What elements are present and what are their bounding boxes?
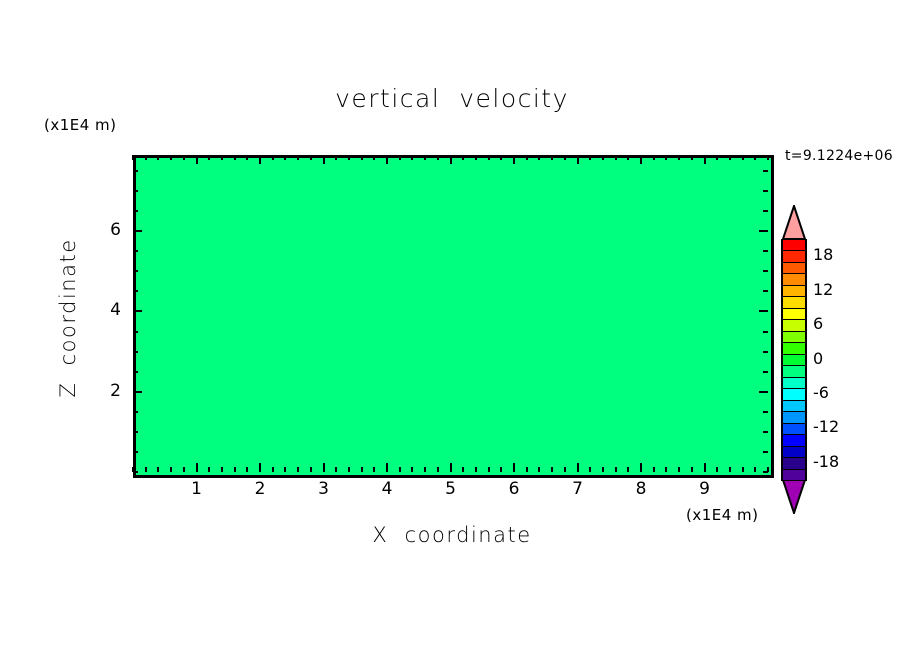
x-tick-major	[196, 463, 198, 472]
vertical-velocity-field	[136, 158, 771, 475]
z-tick-minor	[133, 290, 138, 292]
x-tick-minor-top	[361, 155, 363, 160]
x-tick-minor	[716, 467, 718, 472]
x-tick-minor	[564, 467, 566, 472]
x-tick-minor	[615, 467, 617, 472]
x-tick-minor	[335, 467, 337, 472]
x-tick-minor-top	[183, 155, 185, 160]
x-tick-minor-top	[564, 155, 566, 160]
colorbar	[781, 205, 807, 514]
x-tick-minor-top	[462, 155, 464, 160]
x-tick-minor-top	[538, 155, 540, 160]
x-tick-minor	[246, 467, 248, 472]
x-tick-minor	[284, 467, 286, 472]
x-axis-unit-label: (x1E4 m)	[686, 506, 759, 524]
x-tick-minor	[551, 467, 553, 472]
z-axis-title: Z coordinate	[56, 198, 80, 438]
x-tick-minor-top	[589, 155, 591, 160]
x-tick-minor	[437, 467, 439, 472]
x-tick-minor-top	[488, 155, 490, 160]
z-tick-label: 6	[91, 220, 121, 240]
x-tick-major-top	[704, 155, 706, 164]
x-tick-minor	[272, 467, 274, 472]
z-tick-minor	[133, 210, 138, 212]
x-tick-minor-top	[678, 155, 680, 160]
x-tick-minor-top	[170, 155, 172, 160]
x-tick-label: 7	[558, 479, 598, 499]
x-axis-title: X coordinate	[0, 523, 904, 547]
x-tick-label: 1	[177, 479, 217, 499]
x-tick-major	[640, 463, 642, 472]
x-tick-minor	[488, 467, 490, 472]
z-tick-minor-right	[763, 210, 768, 212]
colorbar-tick-label: 6	[813, 314, 823, 333]
z-tick-minor-right	[763, 290, 768, 292]
x-tick-minor-top	[767, 155, 769, 160]
x-tick-minor	[500, 467, 502, 472]
x-tick-minor-top	[424, 155, 426, 160]
x-tick-major	[513, 463, 515, 472]
x-tick-label: 2	[240, 479, 280, 499]
x-tick-minor	[729, 467, 731, 472]
x-tick-minor	[361, 467, 363, 472]
x-tick-minor	[627, 467, 629, 472]
z-tick-minor-right	[763, 471, 768, 473]
x-tick-major-top	[640, 155, 642, 164]
z-tick-minor-right	[763, 270, 768, 272]
x-tick-minor-top	[297, 155, 299, 160]
x-tick-minor	[234, 467, 236, 472]
colorbar-cap-top	[781, 205, 807, 239]
x-tick-label: 6	[494, 479, 534, 499]
x-tick-major-top	[259, 155, 261, 164]
x-tick-minor-top	[500, 155, 502, 160]
z-tick-label: 4	[91, 300, 121, 320]
figure-root: vertical velocity (x1E4 m) (x1E4 m) t=9.…	[0, 0, 904, 654]
x-tick-minor	[691, 467, 693, 472]
x-tick-minor-top	[627, 155, 629, 160]
z-tick-minor	[133, 471, 138, 473]
x-tick-minor	[145, 467, 147, 472]
z-tick-minor	[133, 250, 138, 252]
z-tick-minor-right	[763, 371, 768, 373]
x-tick-minor-top	[754, 155, 756, 160]
x-tick-minor-top	[602, 155, 604, 160]
x-tick-minor-top	[411, 155, 413, 160]
x-tick-major-top	[196, 155, 198, 164]
z-tick-minor-right	[763, 431, 768, 433]
x-tick-minor-top	[475, 155, 477, 160]
z-tick-minor	[133, 331, 138, 333]
colorbar-tick-label: 18	[813, 245, 833, 264]
x-tick-minor	[602, 467, 604, 472]
colorbar-tick-label: -18	[813, 452, 839, 471]
colorbar-cap-bottom	[781, 480, 807, 514]
z-tick-minor	[133, 371, 138, 373]
x-tick-minor-top	[653, 155, 655, 160]
x-tick-minor-top	[272, 155, 274, 160]
z-tick-major-right	[759, 391, 768, 393]
x-tick-minor-top	[246, 155, 248, 160]
x-tick-minor	[665, 467, 667, 472]
timestamp-label: t=9.1224e+06	[785, 148, 893, 164]
x-tick-minor-top	[615, 155, 617, 160]
x-tick-major	[259, 463, 261, 472]
x-tick-minor	[424, 467, 426, 472]
x-tick-minor-top	[665, 155, 667, 160]
x-tick-minor-top	[157, 155, 159, 160]
z-tick-major	[133, 230, 142, 232]
x-tick-minor-top	[335, 155, 337, 160]
z-tick-minor	[133, 431, 138, 433]
y-axis-unit-label: (x1E4 m)	[44, 116, 117, 134]
z-tick-label: 2	[91, 381, 121, 401]
z-tick-minor-right	[763, 331, 768, 333]
x-tick-label: 3	[304, 479, 344, 499]
x-tick-minor	[170, 467, 172, 472]
z-tick-major-right	[759, 310, 768, 312]
x-tick-minor	[526, 467, 528, 472]
z-tick-major	[133, 391, 142, 393]
x-tick-minor-top	[348, 155, 350, 160]
z-tick-minor-right	[763, 351, 768, 353]
x-tick-major-top	[386, 155, 388, 164]
colorbar-tick-label: -12	[813, 417, 839, 436]
x-tick-major	[386, 463, 388, 472]
x-tick-minor	[348, 467, 350, 472]
colorbar-tick-label: 0	[813, 349, 823, 368]
x-tick-minor-top	[437, 155, 439, 160]
x-tick-major-top	[323, 155, 325, 164]
x-tick-minor	[742, 467, 744, 472]
x-tick-label: 9	[685, 479, 725, 499]
x-tick-minor	[411, 467, 413, 472]
x-tick-minor	[653, 467, 655, 472]
x-tick-minor	[157, 467, 159, 472]
x-tick-minor	[297, 467, 299, 472]
z-tick-minor-right	[763, 451, 768, 453]
x-tick-minor-top	[373, 155, 375, 160]
x-tick-minor	[399, 467, 401, 472]
x-tick-major	[323, 463, 325, 472]
x-tick-minor-top	[310, 155, 312, 160]
x-tick-major	[450, 463, 452, 472]
x-tick-minor-top	[551, 155, 553, 160]
x-tick-minor-top	[742, 155, 744, 160]
z-tick-minor	[133, 451, 138, 453]
x-tick-minor	[221, 467, 223, 472]
z-tick-minor-right	[763, 190, 768, 192]
z-tick-minor-right	[763, 170, 768, 172]
z-tick-minor	[133, 170, 138, 172]
z-tick-minor	[133, 190, 138, 192]
z-tick-major	[133, 310, 142, 312]
x-tick-minor-top	[221, 155, 223, 160]
x-tick-minor	[538, 467, 540, 472]
x-tick-minor	[475, 467, 477, 472]
z-tick-minor-right	[763, 250, 768, 252]
contour-plot-area	[133, 155, 774, 478]
x-tick-minor-top	[284, 155, 286, 160]
x-tick-minor	[589, 467, 591, 472]
x-tick-minor-top	[145, 155, 147, 160]
x-tick-label: 8	[621, 479, 661, 499]
x-tick-minor-top	[526, 155, 528, 160]
z-tick-minor-right	[763, 411, 768, 413]
x-tick-label: 5	[431, 479, 471, 499]
z-tick-minor	[133, 270, 138, 272]
x-tick-minor	[754, 467, 756, 472]
x-tick-minor-top	[399, 155, 401, 160]
x-tick-minor	[310, 467, 312, 472]
x-tick-major-top	[450, 155, 452, 164]
x-tick-minor-top	[729, 155, 731, 160]
z-tick-minor	[133, 411, 138, 413]
z-tick-minor	[133, 351, 138, 353]
colorbar-tick-label: 12	[813, 280, 833, 299]
z-tick-major-right	[759, 230, 768, 232]
x-tick-major	[704, 463, 706, 472]
x-tick-label: 4	[367, 479, 407, 499]
x-tick-minor	[678, 467, 680, 472]
x-tick-minor-top	[691, 155, 693, 160]
x-tick-minor-top	[208, 155, 210, 160]
x-tick-minor-top	[234, 155, 236, 160]
x-tick-minor	[208, 467, 210, 472]
page-title: vertical velocity	[0, 84, 904, 113]
x-tick-minor	[462, 467, 464, 472]
x-tick-major-top	[513, 155, 515, 164]
x-tick-minor	[373, 467, 375, 472]
colorbar-tick-label: -6	[813, 383, 829, 402]
x-tick-minor-top	[716, 155, 718, 160]
x-tick-minor-top	[132, 155, 134, 160]
x-tick-major	[577, 463, 579, 472]
x-tick-major-top	[577, 155, 579, 164]
x-tick-minor	[183, 467, 185, 472]
